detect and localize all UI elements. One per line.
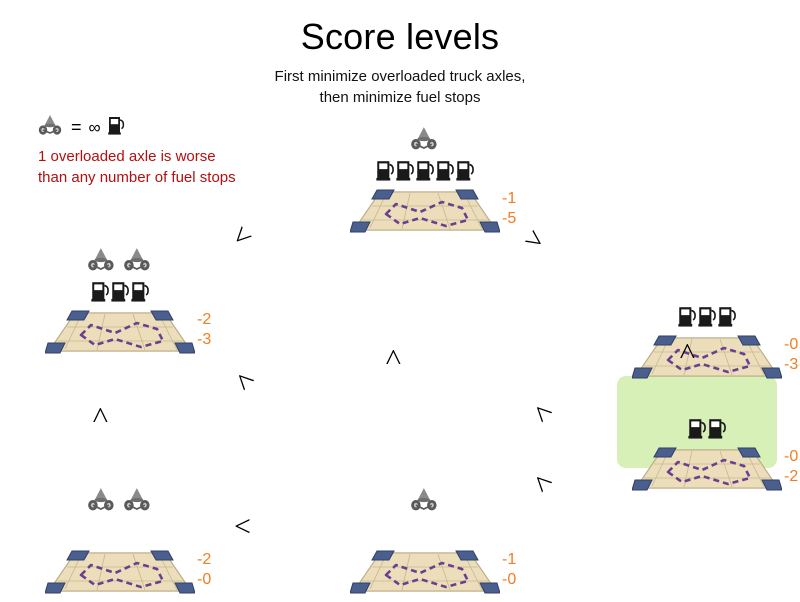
hard-score: -1 (502, 190, 516, 207)
axle-icon-row (45, 487, 195, 517)
node-top-center[interactable]: -1-5 (350, 126, 500, 236)
op-mid-left: < (227, 364, 260, 397)
vehicle-routing-map (632, 334, 782, 382)
hard-score: -1 (502, 551, 516, 568)
legend-note-line-2: than any number of fuel stops (38, 167, 338, 188)
node-middle-left[interactable]: -2-3 (45, 247, 195, 357)
hard-score: -2 (197, 311, 211, 328)
legend-note-line-1: 1 overloaded axle is worse (38, 146, 338, 167)
overloaded-axle-icon (123, 487, 153, 517)
op-bottom: < (234, 512, 251, 542)
page-title: Score levels (0, 16, 800, 58)
soft-score: -2 (784, 468, 798, 485)
fuel-pump-icon-row (350, 156, 500, 186)
fuel-pump-icon-row (350, 517, 500, 547)
overloaded-axle-icon (123, 247, 153, 277)
overloaded-axle-icon (87, 487, 117, 517)
fuel-pump-icon-row (632, 414, 782, 444)
fuel-pump-icon (678, 305, 697, 332)
fuel-pump-icon (91, 280, 110, 307)
legend-equivalence-row: = ∞ (38, 114, 338, 140)
overloaded-axle-icon (410, 126, 440, 156)
soft-score: -3 (784, 356, 798, 373)
overloaded-axle-icon (87, 247, 117, 277)
fuel-pump-icon (688, 417, 707, 444)
legend-note: 1 overloaded axle is worse than any numb… (38, 146, 338, 188)
fuel-pump-icon (416, 159, 435, 186)
op-center: < (377, 349, 407, 366)
axle-icon-row (632, 384, 782, 414)
fuel-pump-icon-row (45, 517, 195, 547)
vehicle-routing-map (45, 309, 195, 357)
op-upper-left: < (226, 220, 259, 253)
subtitle-line-2: then minimize fuel stops (0, 87, 800, 108)
page-subtitle: First minimize overloaded truck axles, t… (0, 66, 800, 108)
vehicle-routing-map (350, 549, 500, 597)
soft-score: -3 (197, 331, 211, 348)
op-lower-right: < (525, 466, 558, 499)
legend-equals-sign: = (71, 118, 82, 136)
soft-score: -0 (197, 571, 211, 588)
fuel-pump-icon (376, 159, 395, 186)
vehicle-routing-map (350, 188, 500, 236)
op-right-upper: < (671, 343, 701, 360)
node-bottom-left[interactable]: -2-0 (45, 487, 195, 597)
vehicle-routing-map (632, 446, 782, 494)
fuel-pump-icon (456, 159, 475, 186)
op-upper-right: < (520, 222, 551, 256)
soft-score: -5 (502, 210, 516, 227)
vehicle-routing-map (45, 549, 195, 597)
op-mid-right: < (525, 396, 558, 429)
axle-icon-row (350, 126, 500, 156)
op-left: < (84, 407, 114, 424)
axle-icon-row (632, 272, 782, 302)
axle-icon-row (350, 487, 500, 517)
node-bottom-center[interactable]: -1-0 (350, 487, 500, 597)
soft-score: -0 (502, 571, 516, 588)
fuel-pump-icon (108, 115, 125, 140)
overloaded-axle-icon (38, 114, 64, 141)
node-optimal-solution[interactable]: -0-2 (632, 384, 782, 494)
fuel-pump-icon (708, 417, 727, 444)
fuel-pump-icon-row (632, 302, 782, 332)
fuel-pump-icon-row (45, 277, 195, 307)
fuel-pump-icon (131, 280, 150, 307)
fuel-pump-icon (436, 159, 455, 186)
fuel-pump-icon (698, 305, 717, 332)
legend: = ∞ 1 overloaded axle is worse than any … (38, 114, 338, 188)
hard-score: -0 (784, 336, 798, 353)
overloaded-axle-icon (410, 487, 440, 517)
fuel-pump-icon (111, 280, 130, 307)
fuel-pump-icon (396, 159, 415, 186)
hard-score: -0 (784, 448, 798, 465)
axle-icon-row (45, 247, 195, 277)
subtitle-line-1: First minimize overloaded truck axles, (0, 66, 800, 87)
hard-score: -2 (197, 551, 211, 568)
fuel-pump-icon (718, 305, 737, 332)
node-middle-right[interactable]: -0-3 (632, 272, 782, 382)
legend-infinity-symbol: ∞ (89, 119, 101, 136)
